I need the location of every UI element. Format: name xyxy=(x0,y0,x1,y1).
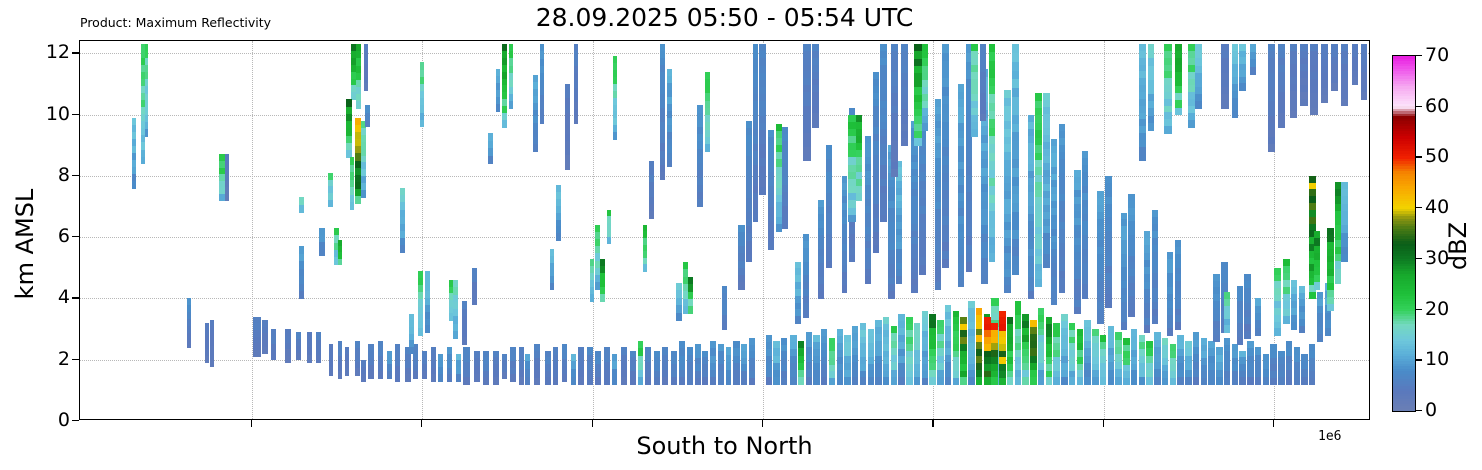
reflectivity-cell xyxy=(1146,377,1152,385)
x-tick-mark xyxy=(1103,420,1104,427)
reflectivity-cell xyxy=(356,101,361,109)
reflectivity-cell xyxy=(806,377,812,385)
x-tick-mark xyxy=(762,420,763,427)
reflectivity-cell xyxy=(1148,123,1154,131)
reflectivity-cell xyxy=(262,347,268,354)
reflectivity-cell xyxy=(1059,285,1065,293)
reflectivity-cell xyxy=(662,377,668,385)
reflectivity-cell xyxy=(420,120,425,128)
reflectivity-cell xyxy=(509,101,514,109)
x-axis-label: South to North xyxy=(79,432,1370,460)
colorbar-tick-label: 60 xyxy=(1425,95,1449,117)
reflectivity-cell xyxy=(660,172,666,180)
reflectivity-cell xyxy=(722,322,728,330)
reflectivity-cell xyxy=(578,377,584,385)
colorbar-tick-mark xyxy=(1416,55,1422,56)
y-tick-label: 6 xyxy=(58,225,70,247)
reflectivity-cell xyxy=(361,374,366,382)
reflectivity-cell xyxy=(328,200,333,207)
reflectivity-cell xyxy=(1283,316,1289,324)
colorbar-tick-mark xyxy=(1416,309,1422,310)
reflectivity-cell xyxy=(319,249,325,257)
reflectivity-cell xyxy=(695,378,701,385)
reflectivity-cell xyxy=(400,245,405,253)
reflectivity-cell xyxy=(865,276,871,284)
reflectivity-cell xyxy=(1121,322,1127,330)
reflectivity-cell xyxy=(1193,377,1199,385)
reflectivity-cell xyxy=(1097,316,1103,324)
reflectivity-cell xyxy=(364,83,368,90)
colorbar xyxy=(1392,55,1416,412)
reflectivity-cell xyxy=(795,316,801,324)
reflectivity-cell xyxy=(418,328,423,336)
colorbar-tick-mark xyxy=(1416,258,1422,259)
reflectivity-cell xyxy=(630,377,636,384)
reflectivity-cell xyxy=(1255,377,1261,385)
reflectivity-cell xyxy=(1123,378,1129,385)
reflectivity-cell xyxy=(205,356,209,363)
reflectivity-cell xyxy=(1331,83,1338,90)
reflectivity-cell xyxy=(1185,377,1191,385)
reflectivity-cell xyxy=(225,194,230,201)
reflectivity-cell xyxy=(1043,261,1049,269)
reflectivity-cell xyxy=(667,160,672,168)
reflectivity-cell xyxy=(1092,377,1098,385)
reflectivity-cell xyxy=(141,157,146,165)
reflectivity-cell xyxy=(525,377,530,385)
reflectivity-cell xyxy=(472,297,477,305)
reflectivity-cell xyxy=(1278,120,1285,128)
reflectivity-cell xyxy=(945,377,951,385)
reflectivity-cell xyxy=(980,114,986,122)
radar-cross-section-figure: 28.09.2025 05:50 - 05:54 UTC Product: Ma… xyxy=(0,0,1482,470)
reflectivity-cell xyxy=(856,193,862,201)
reflectivity-cell xyxy=(1131,377,1137,385)
y-tick-mark xyxy=(72,359,79,360)
reflectivity-cell xyxy=(726,377,732,385)
reflectivity-cell xyxy=(705,144,710,152)
colorbar-tick-label: 70 xyxy=(1425,44,1449,66)
reflectivity-cell xyxy=(687,377,693,385)
reflectivity-cell xyxy=(966,262,972,271)
reflectivity-cell xyxy=(702,377,708,384)
reflectivity-cell xyxy=(571,377,576,385)
reflectivity-cell xyxy=(1290,111,1298,118)
reflectivity-cell xyxy=(604,377,610,385)
reflectivity-cell xyxy=(565,163,570,171)
reflectivity-cell xyxy=(929,377,935,385)
reflectivity-cell xyxy=(299,291,304,299)
x-tick-mark xyxy=(932,420,933,427)
y-tick-label: 0 xyxy=(58,409,70,431)
reflectivity-cell xyxy=(1216,377,1222,385)
reflectivity-cell xyxy=(790,377,796,385)
colorbar-tick-label: 0 xyxy=(1425,399,1437,421)
colorbar-tick-mark xyxy=(1416,410,1422,411)
reflectivity-cell xyxy=(1224,378,1230,385)
reflectivity-cell xyxy=(733,377,739,385)
reflectivity-cell xyxy=(540,116,545,124)
reflectivity-cell xyxy=(1188,120,1195,128)
reflectivity-cell xyxy=(210,359,214,366)
reflectivity-cell xyxy=(431,374,436,381)
reflectivity-cell xyxy=(595,282,600,290)
reflectivity-cell xyxy=(395,374,400,382)
reflectivity-cell xyxy=(849,255,855,263)
reflectivity-cell xyxy=(1247,377,1253,385)
reflectivity-cell xyxy=(1004,285,1010,293)
reflectivity-cell xyxy=(1341,99,1348,107)
reflectivity-cell xyxy=(873,245,879,253)
reflectivity-cell xyxy=(782,221,788,229)
reflectivity-cell xyxy=(1309,378,1315,385)
product-subtitle: Product: Maximum Reflectivity xyxy=(80,15,271,30)
reflectivity-cell xyxy=(984,377,991,384)
reflectivity-cell xyxy=(911,285,917,293)
reflectivity-cell xyxy=(1335,276,1341,284)
reflectivity-cell xyxy=(741,378,747,385)
reflectivity-cell xyxy=(271,352,276,360)
reflectivity-cell xyxy=(749,378,755,385)
reflectivity-cell xyxy=(496,104,501,112)
reflectivity-data xyxy=(80,41,1369,419)
reflectivity-cell xyxy=(958,278,964,286)
reflectivity-cell xyxy=(710,377,716,385)
reflectivity-cell xyxy=(1007,377,1013,384)
reflectivity-cell xyxy=(1268,144,1276,152)
reflectivity-cell xyxy=(1167,328,1173,336)
reflectivity-cell xyxy=(991,377,997,385)
reflectivity-cell xyxy=(145,129,148,137)
reflectivity-cell xyxy=(781,378,787,385)
reflectivity-cell xyxy=(510,374,516,381)
reflectivity-cell xyxy=(880,215,886,223)
reflectivity-cell xyxy=(776,224,782,232)
reflectivity-cell xyxy=(1030,377,1036,385)
x-tick-mark xyxy=(1273,420,1274,427)
reflectivity-cell xyxy=(132,181,137,189)
reflectivity-cell xyxy=(1274,328,1281,335)
reflectivity-cell xyxy=(413,371,418,378)
reflectivity-cell xyxy=(821,377,827,385)
reflectivity-cell xyxy=(1239,377,1245,384)
reflectivity-cell xyxy=(1314,282,1320,290)
reflectivity-cell xyxy=(365,120,370,128)
reflectivity-cell xyxy=(595,377,601,384)
reflectivity-cell xyxy=(1361,92,1367,100)
reflectivity-cell xyxy=(533,144,538,152)
reflectivity-cell xyxy=(285,356,291,363)
reflectivity-cell xyxy=(1270,378,1276,385)
colorbar-tick-label: 50 xyxy=(1425,145,1449,167)
reflectivity-cell xyxy=(638,377,643,385)
reflectivity-cell xyxy=(1175,322,1181,330)
page-title: 28.09.2025 05:50 - 05:54 UTC xyxy=(79,2,1370,34)
reflectivity-cell xyxy=(1038,377,1044,385)
reflectivity-cell xyxy=(355,368,360,375)
reflectivity-cell xyxy=(253,350,261,357)
colorbar-band xyxy=(1393,409,1415,412)
reflectivity-cell xyxy=(1299,326,1305,333)
reflectivity-cell xyxy=(493,377,499,384)
reflectivity-cell xyxy=(1051,298,1057,306)
reflectivity-cell xyxy=(976,377,982,385)
reflectivity-cell xyxy=(355,196,361,204)
reflectivity-cell xyxy=(422,371,427,379)
y-tick-label: 12 xyxy=(46,41,70,63)
reflectivity-cell xyxy=(1108,377,1114,385)
colorbar-tick-mark xyxy=(1416,359,1422,360)
reflectivity-cell xyxy=(600,294,605,302)
reflectivity-cell xyxy=(883,377,889,384)
reflectivity-cell xyxy=(753,215,759,223)
y-tick-label: 2 xyxy=(58,348,70,370)
reflectivity-cell xyxy=(1164,126,1172,134)
reflectivity-cell xyxy=(1077,377,1083,385)
reflectivity-cell xyxy=(813,377,819,385)
reflectivity-cell xyxy=(842,285,848,293)
reflectivity-cell xyxy=(1028,291,1034,299)
reflectivity-cell xyxy=(613,132,617,140)
colorbar-label: dBZ xyxy=(1444,186,1472,306)
reflectivity-cell xyxy=(1046,377,1052,384)
reflectivity-cell xyxy=(556,233,561,241)
reflectivity-cell xyxy=(1105,301,1111,309)
reflectivity-cell xyxy=(803,154,811,162)
reflectivity-cell xyxy=(1152,316,1158,324)
reflectivity-cell xyxy=(1278,377,1284,384)
reflectivity-cell xyxy=(368,371,374,378)
reflectivity-cell xyxy=(1250,67,1256,75)
reflectivity-cell xyxy=(1321,95,1329,103)
reflectivity-cell xyxy=(901,138,908,146)
reflectivity-cell xyxy=(1286,377,1292,385)
reflectivity-cell xyxy=(1195,101,1201,109)
reflectivity-cell xyxy=(829,378,835,385)
reflectivity-cell xyxy=(338,259,342,266)
reflectivity-cell xyxy=(361,190,366,198)
reflectivity-cell xyxy=(818,291,824,299)
y-tick-label: 10 xyxy=(46,103,70,125)
reflectivity-cell xyxy=(1074,307,1080,315)
reflectivity-cell xyxy=(621,377,627,385)
reflectivity-cell xyxy=(187,340,191,348)
reflectivity-cell xyxy=(1327,304,1334,312)
reflectivity-cell xyxy=(463,377,469,385)
reflectivity-cell xyxy=(378,371,383,379)
reflectivity-cell xyxy=(1170,378,1176,385)
reflectivity-cell xyxy=(798,377,804,385)
reflectivity-cell xyxy=(1255,328,1261,336)
reflectivity-cell xyxy=(534,378,540,385)
reflectivity-cell xyxy=(387,371,392,379)
reflectivity-cell xyxy=(425,325,430,333)
reflectivity-cell xyxy=(438,374,444,382)
reflectivity-cell xyxy=(803,310,809,318)
reflectivity-cell xyxy=(1213,335,1219,342)
reflectivity-cell xyxy=(1232,111,1238,118)
reflectivity-cell xyxy=(405,374,411,381)
reflectivity-cell xyxy=(350,202,355,210)
reflectivity-cell xyxy=(1035,279,1041,287)
reflectivity-cell xyxy=(960,377,966,384)
colorbar-tick-mark xyxy=(1416,156,1422,157)
reflectivity-cell xyxy=(718,378,724,385)
reflectivity-cell xyxy=(759,187,765,195)
reflectivity-cell xyxy=(645,377,651,385)
reflectivity-cell xyxy=(483,377,489,384)
reflectivity-cell xyxy=(1177,377,1183,385)
reflectivity-cell xyxy=(968,377,974,385)
reflectivity-cell xyxy=(1244,331,1250,339)
reflectivity-cell xyxy=(852,377,858,385)
y-tick-label: 4 xyxy=(58,286,70,308)
reflectivity-cell xyxy=(1053,377,1059,385)
y-tick-mark xyxy=(72,297,79,298)
reflectivity-cell xyxy=(1309,292,1316,300)
reflectivity-cell xyxy=(545,377,551,384)
reflectivity-cell xyxy=(1221,101,1229,109)
reflectivity-cell xyxy=(1022,377,1028,385)
colorbar-tick-mark xyxy=(1416,106,1422,107)
reflectivity-cell xyxy=(1201,378,1207,385)
x-tick-mark xyxy=(251,420,252,427)
colorbar-tick-label: 10 xyxy=(1425,348,1449,370)
reflectivity-cell xyxy=(1154,377,1160,385)
y-tick-mark xyxy=(72,175,79,176)
reflectivity-cell xyxy=(868,377,874,385)
reflectivity-cell xyxy=(1310,108,1318,116)
reflectivity-cell xyxy=(922,123,928,131)
reflectivity-cell xyxy=(1012,265,1018,275)
reflectivity-cell xyxy=(590,294,595,302)
reflectivity-cell xyxy=(1015,377,1021,385)
reflectivity-cell xyxy=(953,378,959,385)
reflectivity-cell xyxy=(296,353,301,361)
reflectivity-cell xyxy=(676,313,681,321)
reflectivity-cell xyxy=(826,261,832,269)
reflectivity-cell xyxy=(462,337,467,345)
reflectivity-cell xyxy=(1352,77,1358,84)
y-tick-mark xyxy=(72,236,79,237)
reflectivity-cell xyxy=(906,377,912,384)
reflectivity-cell xyxy=(1115,377,1121,385)
reflectivity-cell xyxy=(456,374,461,382)
reflectivity-cell xyxy=(989,253,995,262)
reflectivity-cell xyxy=(1100,377,1106,385)
reflectivity-cell xyxy=(1144,325,1150,333)
y-tick-mark xyxy=(72,114,79,115)
reflectivity-cell xyxy=(550,283,555,290)
reflectivity-cell xyxy=(1139,154,1146,162)
reflectivity-cell xyxy=(875,377,881,385)
reflectivity-cell xyxy=(1175,108,1182,116)
reflectivity-cell xyxy=(888,291,894,299)
reflectivity-cell xyxy=(1069,377,1075,385)
reflectivity-cell xyxy=(1294,377,1300,385)
reflectivity-cell xyxy=(307,355,312,363)
reflectivity-cell xyxy=(1139,377,1145,385)
reflectivity-cell xyxy=(981,275,987,284)
reflectivity-cell xyxy=(1224,325,1230,332)
reflectivity-cell xyxy=(848,215,856,223)
reflectivity-cell xyxy=(768,242,774,250)
reflectivity-cell xyxy=(587,377,593,385)
reflectivity-cell xyxy=(329,367,333,375)
y-tick-mark xyxy=(72,420,79,421)
reflectivity-cell xyxy=(898,377,904,385)
reflectivity-cell xyxy=(316,355,321,363)
x-tick-mark xyxy=(421,420,422,427)
reflectivity-cell xyxy=(649,211,654,219)
reflectivity-cell xyxy=(1084,377,1090,385)
reflectivity-cell xyxy=(773,377,779,385)
reflectivity-cell xyxy=(607,237,612,244)
reflectivity-cell xyxy=(860,377,866,385)
reflectivity-cell xyxy=(837,377,843,385)
reflectivity-cell xyxy=(519,377,524,385)
reflectivity-cell xyxy=(1317,334,1323,342)
reflectivity-cell xyxy=(766,377,772,385)
reflectivity-cell xyxy=(922,378,928,385)
reflectivity-cell xyxy=(654,377,660,384)
reflectivity-cell xyxy=(679,377,685,385)
y-tick-label: 8 xyxy=(58,164,70,186)
reflectivity-cell xyxy=(942,259,948,268)
reflectivity-cell xyxy=(643,264,648,271)
reflectivity-cell xyxy=(1341,254,1347,262)
reflectivity-cell xyxy=(891,169,899,177)
reflectivity-cell xyxy=(1291,322,1297,330)
reflectivity-cell xyxy=(999,378,1006,385)
reflectivity-cell xyxy=(574,116,578,124)
plot-area xyxy=(79,40,1370,420)
reflectivity-cell xyxy=(738,282,744,290)
reflectivity-cell xyxy=(1208,377,1214,385)
x-tick-mark xyxy=(592,420,593,427)
reflectivity-cell xyxy=(896,276,902,284)
reflectivity-cell xyxy=(502,120,507,128)
reflectivity-cell xyxy=(671,377,677,384)
reflectivity-cell xyxy=(1232,378,1238,385)
reflectivity-cell xyxy=(914,138,922,146)
reflectivity-cell xyxy=(1263,377,1269,385)
colorbar-tick-mark xyxy=(1416,207,1422,208)
reflectivity-cell xyxy=(971,129,978,137)
reflectivity-cell xyxy=(488,156,493,164)
reflectivity-cell xyxy=(338,371,342,379)
reflectivity-cell xyxy=(1128,310,1134,318)
reflectivity-cell xyxy=(553,377,559,385)
reflectivity-cell xyxy=(919,265,925,274)
reflectivity-cell xyxy=(612,377,617,385)
reflectivity-cell xyxy=(1061,377,1067,385)
reflectivity-cell xyxy=(447,374,453,381)
reflectivity-cell xyxy=(891,377,897,385)
reflectivity-cell xyxy=(1325,328,1331,336)
reflectivity-cell xyxy=(844,377,850,385)
reflectivity-cell xyxy=(1162,378,1168,385)
reflectivity-cell xyxy=(812,120,819,128)
x-axis-offset-label: 1e6 xyxy=(1318,429,1341,444)
reflectivity-cell xyxy=(1239,83,1246,90)
reflectivity-cell xyxy=(502,372,507,379)
reflectivity-cell xyxy=(474,374,480,382)
reflectivity-cell xyxy=(562,374,568,382)
reflectivity-cell xyxy=(409,347,414,354)
y-axis-label: km AMSL xyxy=(11,124,39,364)
reflectivity-cell xyxy=(935,282,941,290)
